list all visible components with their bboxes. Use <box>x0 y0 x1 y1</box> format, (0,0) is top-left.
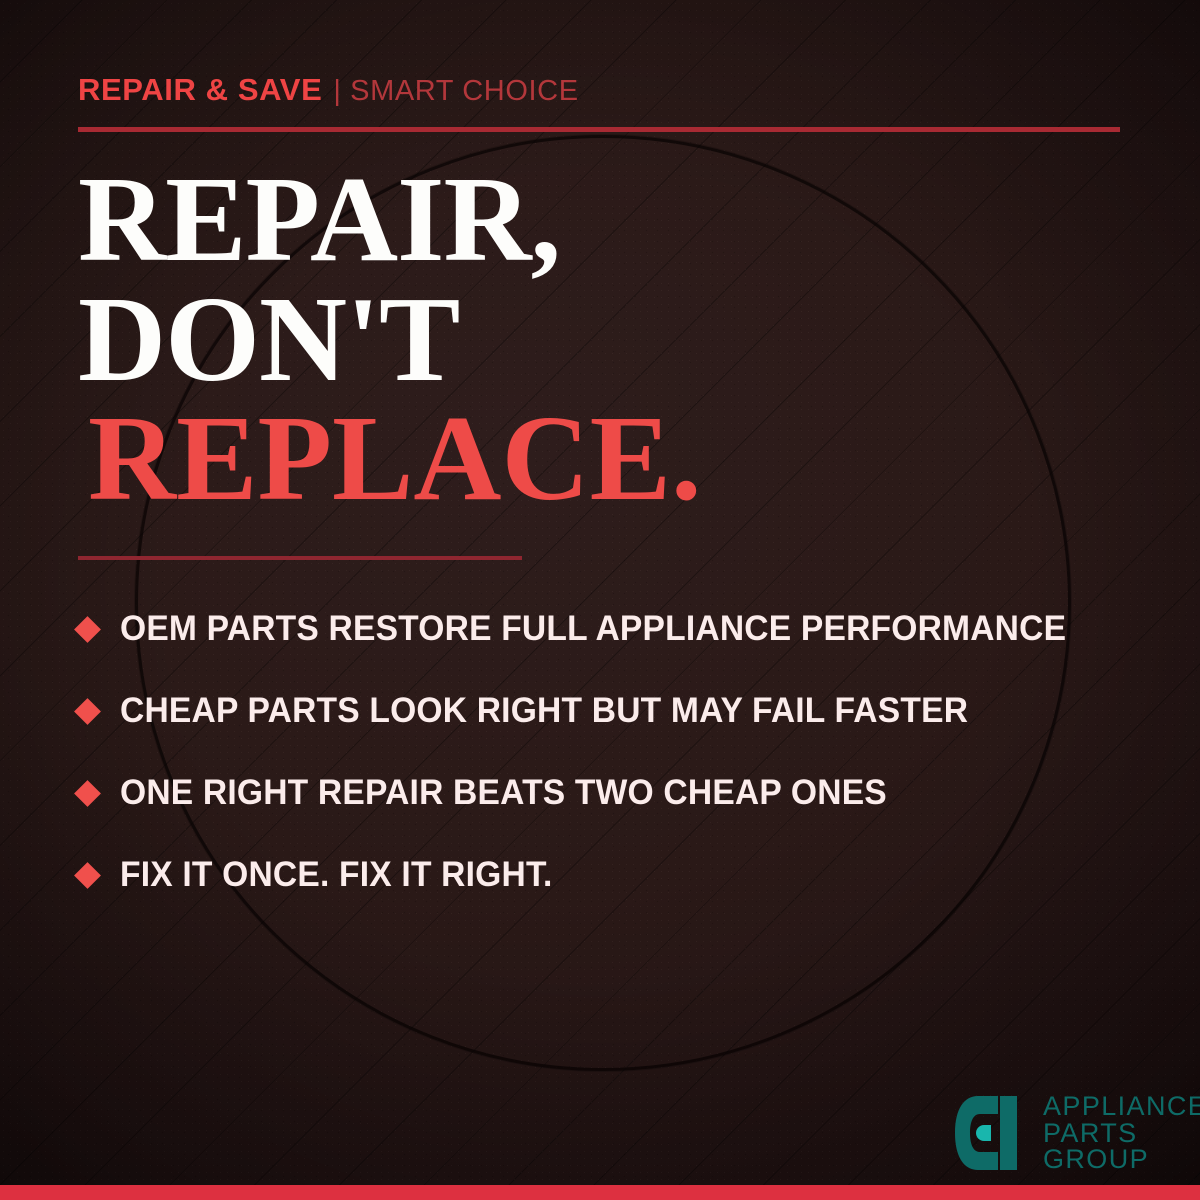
headline-underline-divider <box>78 556 522 560</box>
promo-poster: REPAIR & SAVE| SMART CHOICE REPAIR, DON'… <box>0 0 1200 1200</box>
poster-content: REPAIR & SAVE| SMART CHOICE REPAIR, DON'… <box>0 0 1200 1200</box>
brand-logo: APPLIANCE PARTS GROUP <box>952 1092 1200 1174</box>
diamond-bullet-icon <box>74 862 101 889</box>
list-item: OEM PARTS RESTORE FULL APPLIANCE PERFORM… <box>78 588 1148 670</box>
page-title: REPAIR, DON'T REPLACE. <box>78 160 1128 519</box>
list-item: CHEAP PARTS LOOK RIGHT BUT MAY FAIL FAST… <box>78 670 1148 752</box>
headline-line-2: DON'T <box>78 280 1128 400</box>
diamond-bullet-icon <box>74 616 101 643</box>
eyebrow-sub-label: | SMART CHOICE <box>333 75 578 107</box>
header-divider <box>78 127 1120 132</box>
logo-word-line-3: GROUP <box>1043 1146 1200 1173</box>
list-item-label: OEM PARTS RESTORE FULL APPLIANCE PERFORM… <box>120 609 1066 649</box>
diamond-bullet-icon <box>74 780 101 807</box>
headline-line-3: REPLACE. <box>78 399 1128 519</box>
headline-line-1: REPAIR, <box>78 160 1128 280</box>
eyebrow-main-label: REPAIR & SAVE <box>78 72 322 107</box>
list-item-label: CHEAP PARTS LOOK RIGHT BUT MAY FAIL FAST… <box>120 691 968 731</box>
eyebrow: REPAIR & SAVE| SMART CHOICE <box>78 74 579 106</box>
bottom-accent-bar <box>0 1185 1200 1200</box>
logo-word-line-1: APPLIANCE <box>1043 1093 1200 1120</box>
benefits-list: OEM PARTS RESTORE FULL APPLIANCE PERFORM… <box>78 588 1148 916</box>
list-item: ONE RIGHT REPAIR BEATS TWO CHEAP ONES <box>78 752 1148 834</box>
g-monogram-icon <box>952 1092 1032 1174</box>
list-item-label: FIX IT ONCE. FIX IT RIGHT. <box>120 855 552 895</box>
list-item: FIX IT ONCE. FIX IT RIGHT. <box>78 834 1148 916</box>
list-item-label: ONE RIGHT REPAIR BEATS TWO CHEAP ONES <box>120 773 887 813</box>
diamond-bullet-icon <box>74 698 101 725</box>
logo-wordmark: APPLIANCE PARTS GROUP <box>1043 1093 1200 1173</box>
logo-word-line-2: PARTS <box>1043 1120 1200 1147</box>
